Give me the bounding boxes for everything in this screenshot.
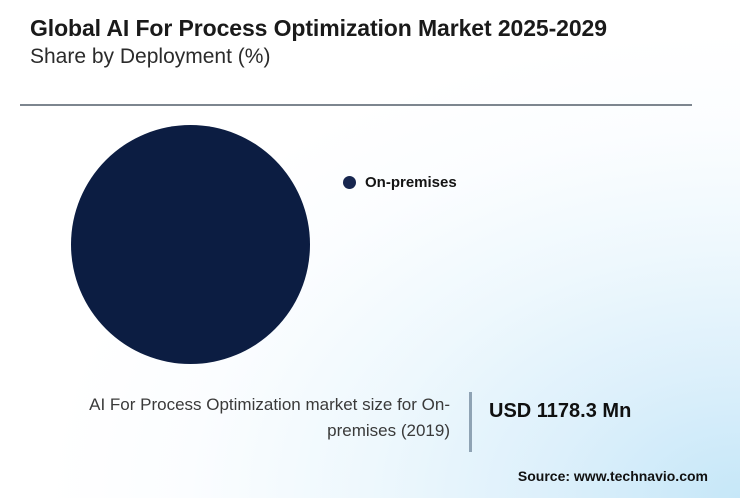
chart-legend: On-premises — [343, 174, 457, 191]
callout-description: AI For Process Optimization market size … — [22, 392, 450, 444]
callout-block: AI For Process Optimization market size … — [0, 392, 740, 454]
legend-item-on-premises[interactable]: On-premises — [343, 174, 457, 191]
header: Global AI For Process Optimization Marke… — [30, 14, 702, 70]
callout-value: USD 1178.3 Mn — [489, 400, 631, 423]
infographic-card: Global AI For Process Optimization Marke… — [0, 0, 740, 498]
legend-item-label: On-premises — [365, 174, 457, 191]
page-title: Global AI For Process Optimization Marke… — [30, 14, 702, 42]
callout-divider — [469, 392, 472, 452]
header-divider — [20, 104, 692, 106]
pie-chart — [0, 110, 380, 380]
source-label: Source: www.technavio.com — [518, 468, 708, 484]
pie-slice-on-premises[interactable] — [71, 125, 310, 364]
page-subtitle: Share by Deployment (%) — [30, 44, 702, 70]
legend-dot-icon — [343, 176, 356, 189]
